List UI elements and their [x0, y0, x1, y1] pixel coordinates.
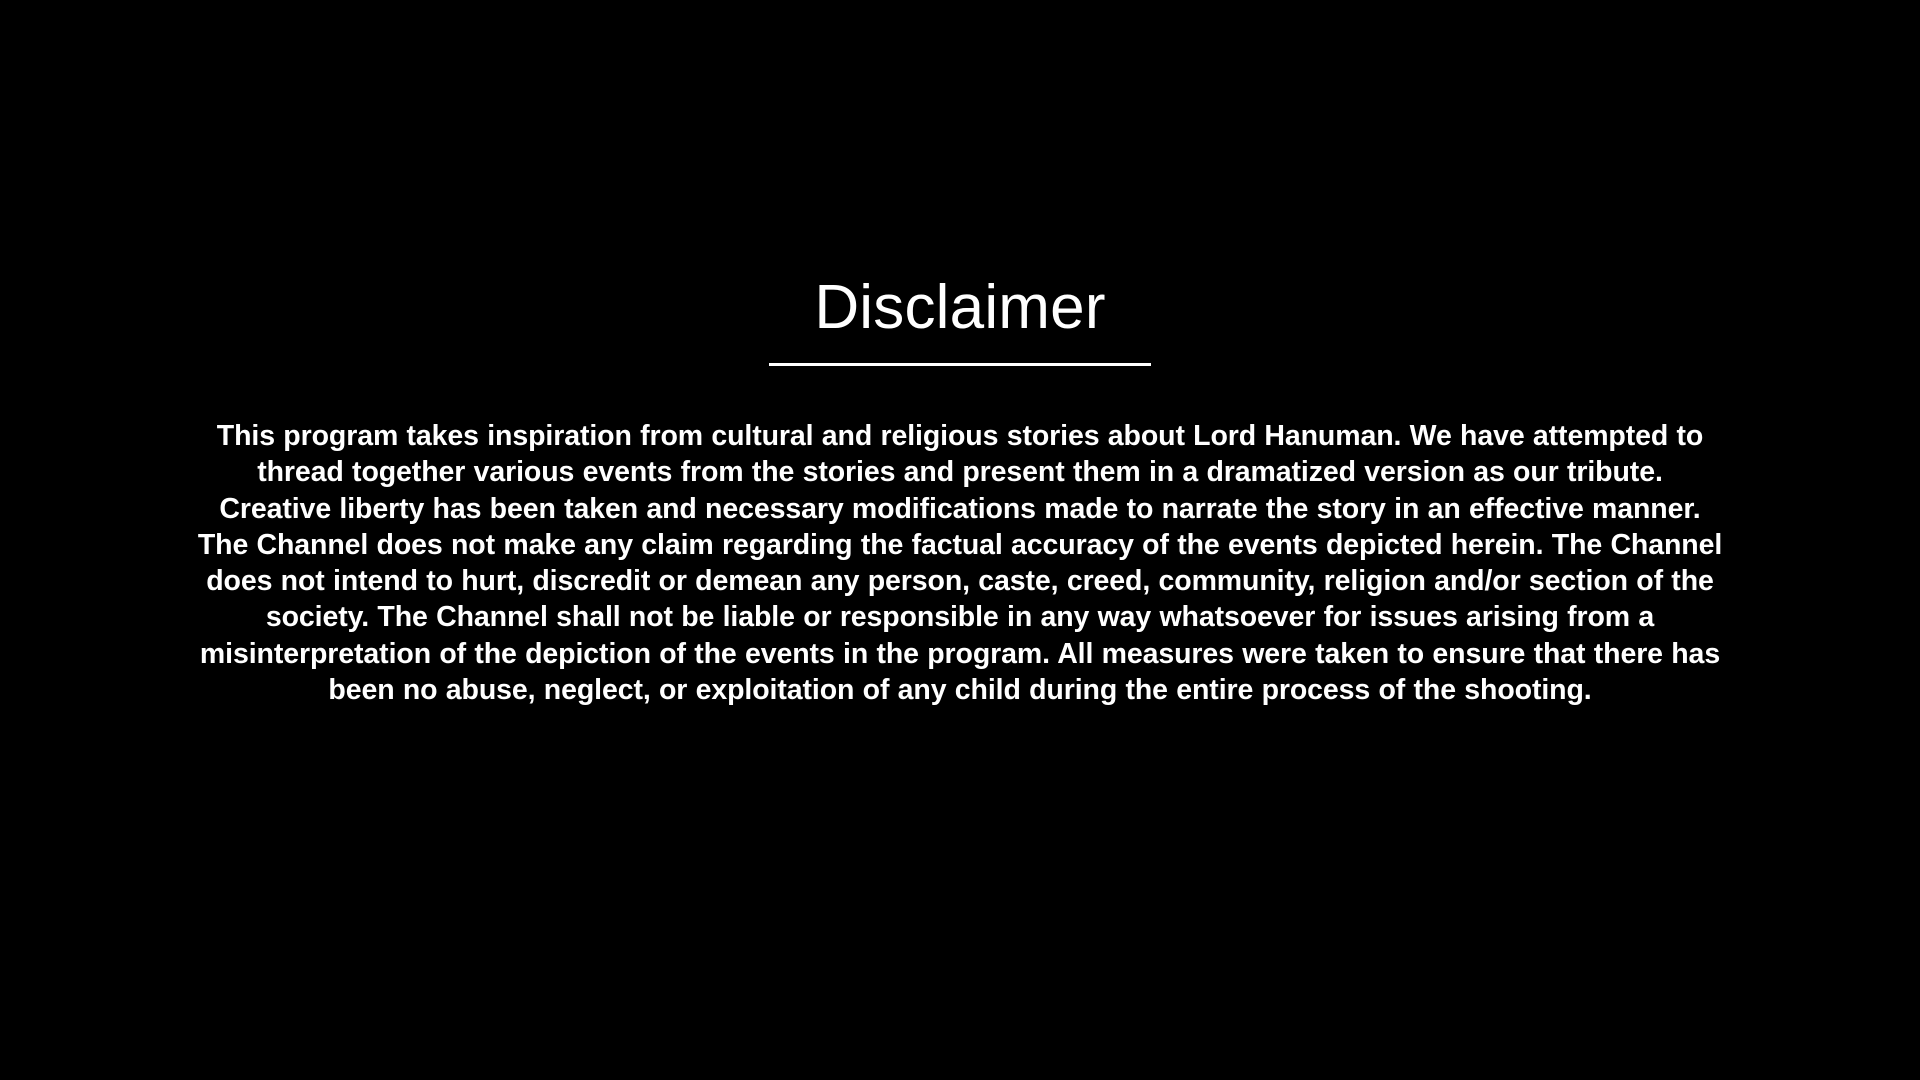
page-title: Disclaimer [0, 272, 1920, 344]
title-underline-rule [769, 363, 1151, 366]
disclaimer-slide: Disclaimer This program takes inspiratio… [0, 0, 1920, 1080]
disclaimer-body-text: This program takes inspiration from cult… [195, 418, 1725, 708]
title-block: Disclaimer [0, 272, 1920, 366]
